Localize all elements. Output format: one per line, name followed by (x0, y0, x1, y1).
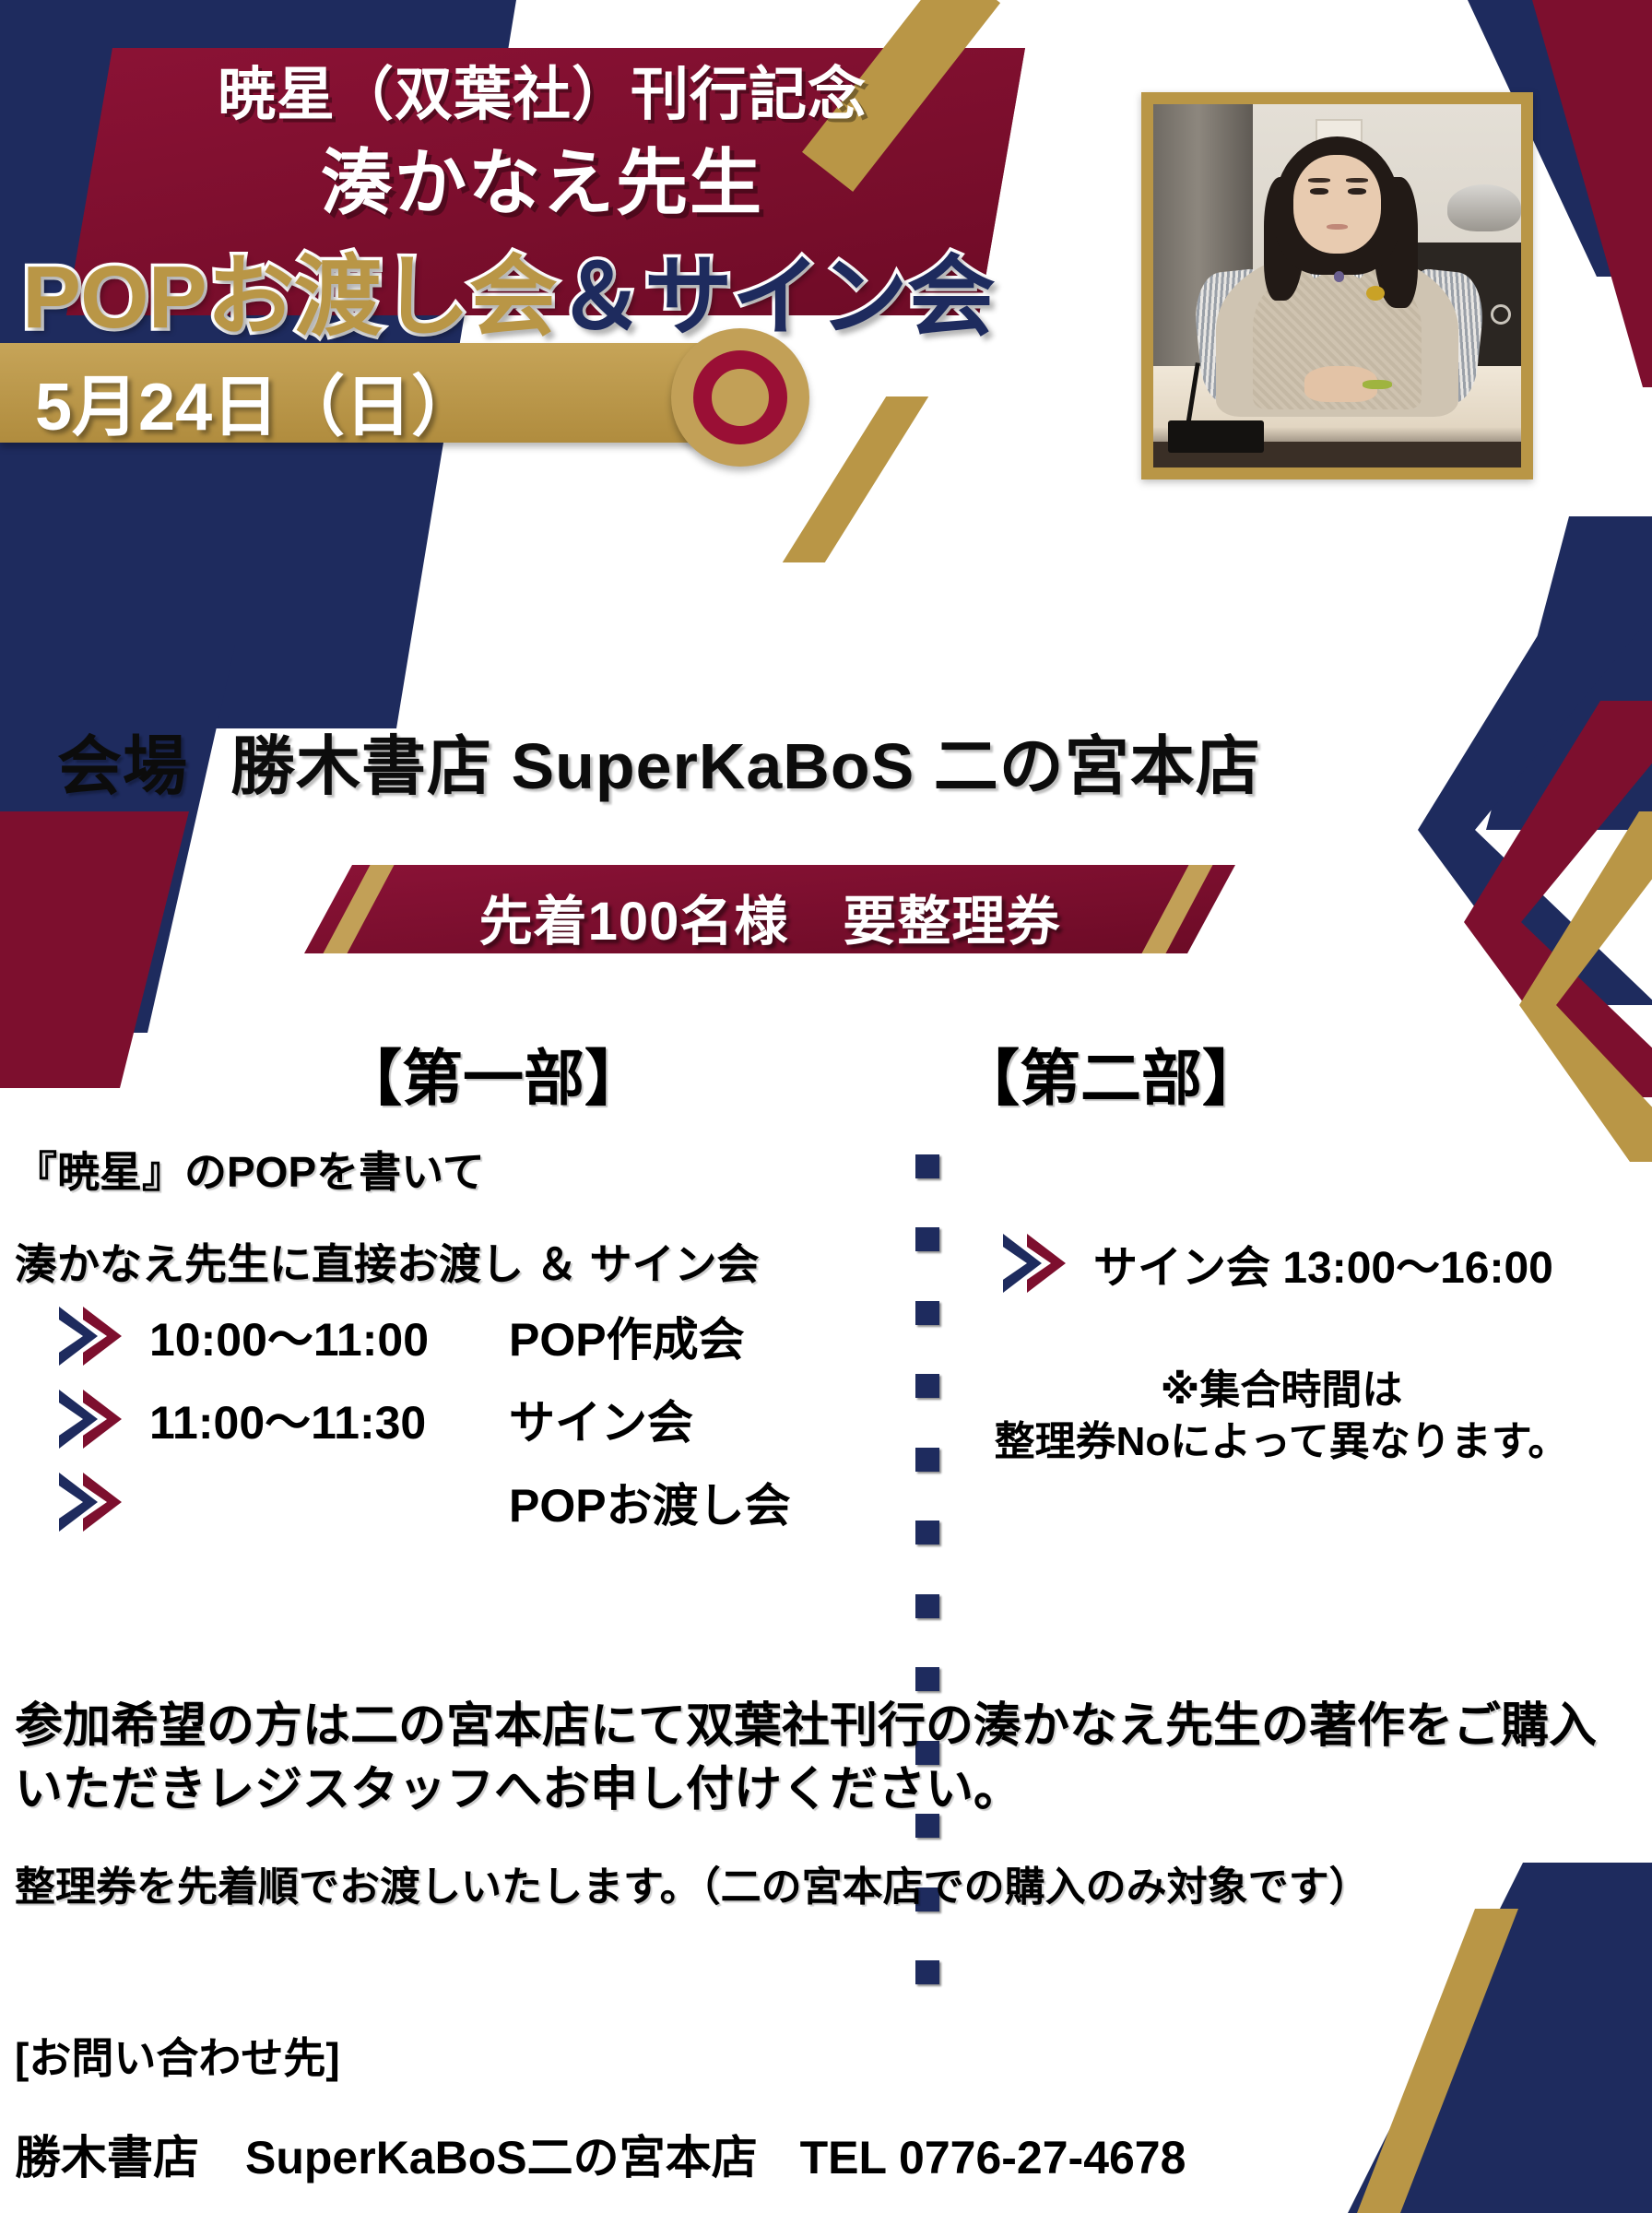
date-circle-ring (693, 350, 787, 444)
part2-content: サイン会 13:00〜16:00 ※集合時間は 整理券Noによって異なります。 (959, 1226, 1641, 1469)
venue-line: 会場勝木書店 SuperKaBoS 二の宮本店 (57, 715, 1587, 808)
schedule-label: POP作成会 (509, 1303, 745, 1369)
part1-content: 『暁星』のPOPを書いて 湊かなえ先生に直接お渡し ＆ サイン会 10:00〜1… (15, 1151, 900, 1544)
venue-name: 勝木書店 SuperKaBoS 二の宮本店 (230, 730, 1261, 802)
photo-face (1293, 155, 1382, 253)
part2-schedule-text: サイン会 13:00〜16:00 (1093, 1231, 1553, 1296)
divider-dot (915, 1594, 939, 1618)
divider-dot (915, 1154, 939, 1178)
photo-eyebrow-right (1346, 178, 1368, 183)
author-portrait-photo (1153, 104, 1521, 467)
schedule-time: 10:00〜11:00 (149, 1303, 509, 1369)
divider-dot (915, 1227, 939, 1251)
double-chevron-icon (59, 1473, 131, 1532)
divider-dot (915, 1960, 939, 1984)
divider-dot (915, 1667, 939, 1691)
part2-note: ※集合時間は 整理券Noによって異なります。 (959, 1365, 1604, 1469)
venue-label: 会場 (57, 730, 188, 802)
schedule-row: 11:00〜11:30 サイン会 (15, 1378, 900, 1461)
part2-note-line2: 整理券Noによって異なります。 (959, 1416, 1604, 1468)
part2-heading: 【第二部】 (959, 1029, 1263, 1118)
schedule-row: POPお渡し会 (15, 1461, 900, 1544)
divider-dot (915, 1521, 939, 1544)
double-chevron-icon (1003, 1234, 1075, 1293)
part1-lead-line1: 『暁星』のPOPを書いて (15, 1151, 900, 1193)
contact-store: 勝木書店 SuperKaBoS二の宮本店 (15, 2132, 758, 2183)
schedule-label: POPお渡し会 (509, 1469, 791, 1535)
double-chevron-icon (59, 1307, 131, 1366)
event-date: 5月24日（日） (35, 352, 478, 449)
photo-eye-left (1310, 188, 1328, 195)
contact-tel: TEL 0776-27-4678 (800, 2132, 1186, 2183)
author-portrait-frame (1141, 92, 1533, 479)
event-poster: 暁星（双葉社）刊行記念 湊かなえ先生 (0, 0, 1652, 2213)
event-title: POPお渡し会＆サイン会 (22, 238, 1156, 339)
photo-brooch (1366, 286, 1385, 301)
photo-eyebrow-left (1308, 178, 1330, 183)
divider-dot (915, 1448, 939, 1472)
ticket-note-paragraph: 整理券を先着順でお渡しいたします。（二の宮本店での購入のみ対象です） (15, 1861, 1619, 1913)
event-title-navy: ＆サイン会 (557, 225, 995, 353)
photo-bracelet (1363, 380, 1392, 389)
instruction-paragraph: 参加希望の方は二の宮本店にて双葉社刊行の湊かなえ先生の著作をご購入いただきレジス… (15, 1695, 1619, 1821)
capacity-ribbon-text: 先着100名様 要整理券 (304, 878, 1235, 955)
photo-dresser-knob (1491, 304, 1511, 325)
part2-note-line1: ※集合時間は (959, 1365, 1604, 1416)
photo-lamp (1447, 184, 1521, 231)
schedule-label: サイン会 (509, 1386, 693, 1452)
part1-lead-line2: 湊かなえ先生に直接お渡し ＆ サイン会 (15, 1243, 900, 1285)
header-author-name: 湊かなえ先生 (100, 125, 985, 229)
divider-dot (915, 1301, 939, 1325)
schedule-time: 11:00〜11:30 (149, 1386, 509, 1452)
contact-line: 勝木書店 SuperKaBoS二の宮本店TEL 0776-27-4678 (15, 2121, 1186, 2187)
part2-schedule-row: サイン会 13:00〜16:00 (959, 1226, 1641, 1300)
header-subtitle: 暁星（双葉社）刊行記念 (100, 48, 985, 132)
contact-label: [お問い合わせ先] (15, 2025, 340, 2086)
event-title-gold: POPお渡し会 (22, 225, 557, 353)
part1-heading: 【第一部】 (341, 1029, 645, 1118)
schedule-row: 10:00〜11:00 POP作成会 (15, 1295, 900, 1378)
column-divider (915, 1154, 939, 1984)
double-chevron-icon (59, 1390, 131, 1449)
divider-dot (915, 1374, 939, 1398)
photo-pen-holder (1168, 420, 1264, 453)
